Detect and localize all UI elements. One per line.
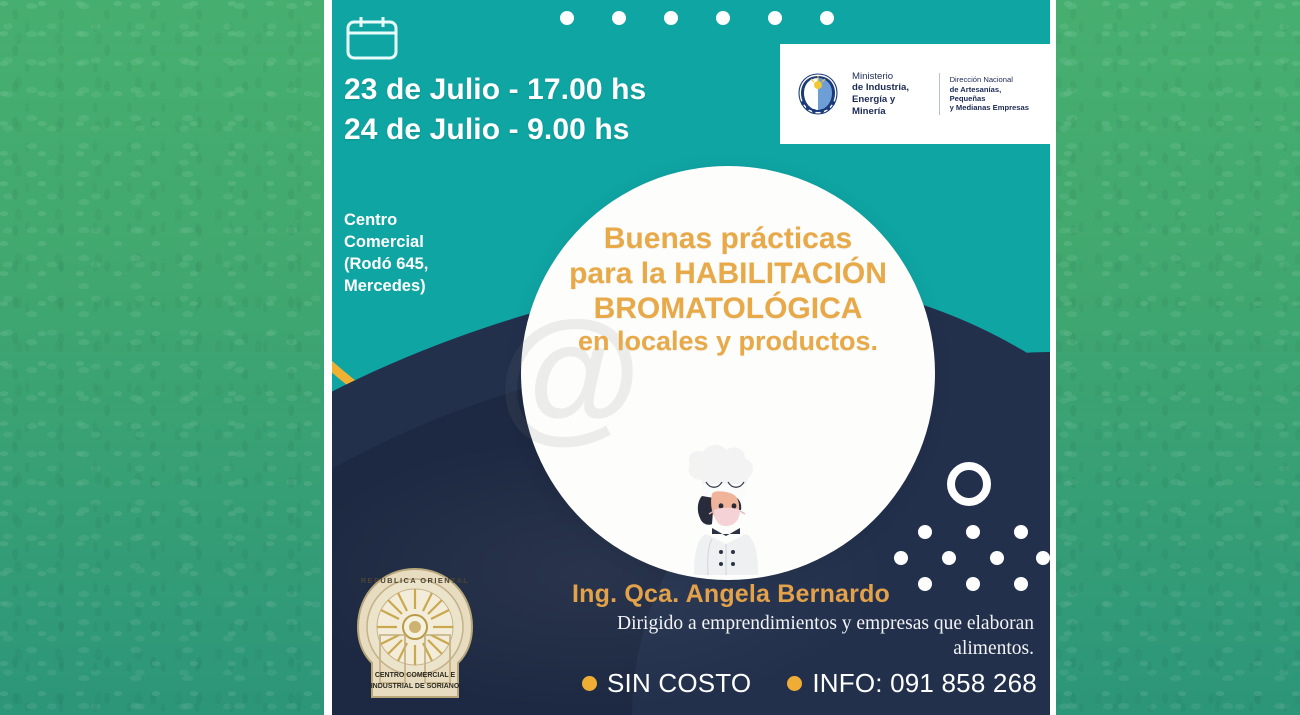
presenter-name: Ing. Qca. Angela Bernardo [532,580,1042,609]
top-dot [768,11,782,25]
grid-dot [942,551,956,565]
top-dots-row [560,11,834,25]
ring-decoration-icon [947,462,991,506]
svg-text:INDUSTRIAL DE SORIANO: INDUSTRIAL DE SORIANO [371,683,460,690]
venue-address: Centro Comercial (Rodó 645, Mercedes) [344,210,494,298]
bullet-dot-icon [787,676,802,691]
uruguay-coat-of-arms-icon [794,70,842,118]
ministry-line-2: de Industria, [852,82,929,94]
ministry-line-3: Energía y Minería [852,94,929,117]
grid-dot [894,551,908,565]
info-label: INFO: 091 858 268 [812,668,1037,699]
headline-line-1: Buenas prácticas [528,222,928,257]
cost-item: SIN COSTO [582,668,751,699]
headline-line-3: BROMATOLÓGICA [528,292,928,327]
soriano-seal-icon: REPÚBLICA ORIENTAL CENTRO COMERCIAL E IN… [350,565,480,705]
top-dot [716,11,730,25]
svg-text:CENTRO COMERCIAL E: CENTRO COMERCIAL E [375,672,456,679]
footer-info-row: SIN COSTO INFO: 091 858 268 [582,668,1044,699]
department-line-3: y Medianas Empresas [950,103,1036,112]
audience-description: Dirigido a emprendimientos y empresas qu… [572,612,1042,662]
poster-stage: @ 23 de Julio - 17.00 hs 24 de Julio - 9… [0,0,1300,715]
ministry-logo-panel: Ministerio de Industria, Energía y Miner… [780,44,1050,144]
info-item: INFO: 091 858 268 [787,668,1037,699]
chef-illustration-icon [676,440,772,575]
top-dot [612,11,626,25]
event-date-2: 24 de Julio - 9.00 hs [344,110,774,150]
top-dot [820,11,834,25]
event-dates: 23 de Julio - 17.00 hs 24 de Julio - 9.0… [344,70,774,149]
top-dot [560,11,574,25]
svg-text:REPÚBLICA ORIENTAL: REPÚBLICA ORIENTAL [361,576,470,585]
headline: Buenas prácticas para la HABILITACIÓN BR… [528,222,928,358]
ministry-name: Ministerio de Industria, Energía y Miner… [852,71,929,118]
bullet-dot-icon [582,676,597,691]
venue-line-3: (Rodó 645, [344,254,494,276]
grid-dot [1036,551,1050,565]
grid-dot [918,525,932,539]
event-date-1: 23 de Julio - 17.00 hs [344,70,774,110]
venue-line-2: Comercial [344,232,494,254]
poster-artwork: @ 23 de Julio - 17.00 hs 24 de Julio - 9… [332,0,1050,715]
department-line-2: de Artesanías, Pequeñas [950,85,1036,104]
venue-line-4: Mercedes) [344,276,494,298]
logo-divider [939,73,940,115]
grid-dot [990,551,1004,565]
headline-line-4: en locales y productos. [528,326,928,357]
cost-label: SIN COSTO [607,668,751,699]
department-line-1: Dirección Nacional [950,75,1036,84]
top-dot [664,11,678,25]
calendar-icon [344,14,400,62]
ministry-line-1: Ministerio [852,71,929,83]
department-name: Dirección Nacional de Artesanías, Pequeñ… [950,75,1036,113]
venue-line-1: Centro [344,210,494,232]
headline-line-2: para la HABILITACIÓN [528,257,928,292]
grid-dot [966,525,980,539]
grid-dot [1014,525,1028,539]
